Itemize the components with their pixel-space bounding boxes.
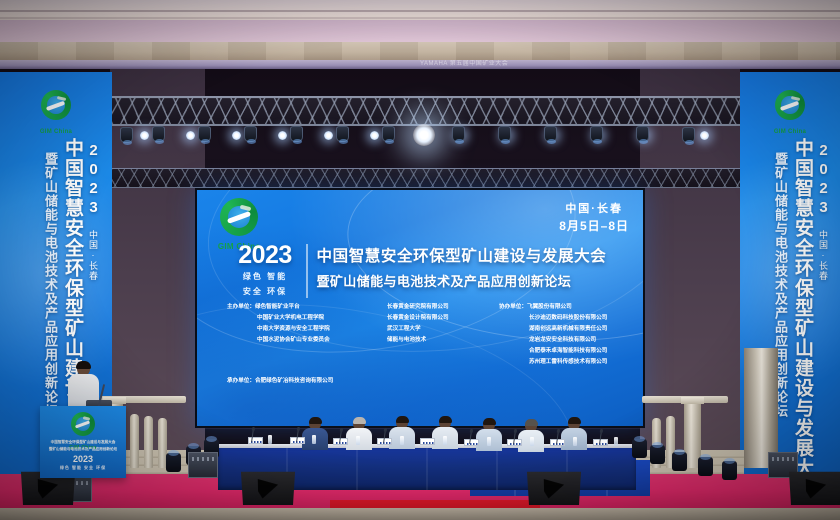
banner-right-city: 中国·长春 [817,230,830,281]
organizer-org: 合肥绿色矿冶科技咨询有限公司 [255,378,333,384]
host-label: 主办单位： [227,302,255,313]
event-slogan-line2: 安全 环保 [229,286,301,298]
host-org: 长春黄金研究院有限公司 [387,302,499,313]
panelist [518,420,544,452]
cohost-org: 苏州理工雷科传感技术有限公司 [499,357,627,368]
cohost-org: 龙岩龙安安全科技有限公司 [499,335,627,346]
podium-title-line2: 暨矿山储能与电池技术及产品应用创新论坛 [48,446,118,453]
equipment-rack-left [188,452,218,478]
banner-right-title-main: 中国智慧安全环保型矿山建设与发展大会 [789,138,816,492]
event-place-date: 中国·长春 8月5日–8日 [559,202,629,235]
host-org: 绿色智能矿业平台 [255,304,300,310]
center-beam-highlight [413,124,435,146]
title-divider [306,244,308,298]
logo-ring-icon [41,90,71,120]
cohost-org: 长沙迪迈数码科技股份有限公司 [499,313,627,324]
cohost-org: 合肥泰禾卓海智能科技有限公司 [499,346,627,357]
podium-year: 2023 [40,454,126,464]
sponsor-credits: 主办单位：绿色智能矿业平台 中国矿业大学机电工程学院 中南大学资源与安全工程学院… [227,302,627,387]
lighting-truss-upper [39,96,803,126]
host-col-1: 主办单位：绿色智能矿业平台 中国矿业大学机电工程学院 中南大学资源与安全工程学院… [227,302,387,367]
ceiling-cornice [0,42,840,60]
cohost-org: 湖南创远高新机械有限责任公司 [499,324,627,335]
auditorium-ceiling [0,0,840,42]
cohost-org: 飞翼股份有限公司 [527,304,572,310]
cohost-col: 协办单位：飞翼股份有限公司 长沙迪迈数码科技股份有限公司 湖南创远高新机械有限责… [499,302,627,367]
host-org: 中国水泥协会矿山专业委员会 [227,335,387,346]
podium-title-line1: 中国智慧安全环保型矿山建设与发展大会 [48,439,118,446]
logo-ring-icon [220,198,258,236]
panelist [476,419,502,451]
podium-slogan: 绿色 智能 安全 环保 [40,465,126,471]
event-title-block: 2023 绿色 智能 安全 环保 中国智慧安全环保型矿山建设与发展大会 暨矿山储… [229,242,615,298]
banner-left-city: 中国·长春 [87,230,100,281]
stage-monitor-speaker [789,472,840,505]
ceiling-ticker-text: YAMAHA 第五届中国矿业大会 [420,60,680,69]
logo-ring-icon [71,412,95,436]
panelist [346,418,372,450]
main-led-screen: GIM China 中国·长春 8月5日–8日 2023 绿色 智能 安全 环保… [195,188,645,428]
gim-china-logo-banner-left: GIM China [27,90,85,138]
organizer-label: 承办单位： [227,376,255,387]
panelist [302,418,328,450]
host-org: 中国矿业大学机电工程学院 [227,313,387,324]
host-org: 长春黄金设计院有限公司 [387,313,499,324]
gim-china-logo-banner-right: GIM China [761,90,819,138]
banner-left-year: 2023 [85,142,102,218]
event-title-main: 中国智慧安全环保型矿山建设与发展大会 [317,244,616,266]
event-year: 2023 [229,243,301,268]
host-org: 武汉工程大学 [387,324,499,335]
event-title-sub: 暨矿山储能与电池技术及产品应用创新论坛 [317,271,616,290]
event-year-block: 2023 绿色 智能 安全 环保 [229,242,301,298]
stage-monitor-speaker [527,472,581,505]
host-org: 中南大学资源与安全工程学院 [227,324,387,335]
conference-stage-photo: YAMAHA 第五届中国矿业大会 [0,0,840,520]
stage-monitor-speaker [241,472,295,505]
event-date: 8月5日–8日 [559,218,629,235]
lighting-truss-lower [90,168,750,188]
speaker-podium: GIM China 中国智慧安全环保型矿山建设与发展大会 暨矿山储能与电池技术及… [40,406,126,478]
auditorium-front-floor [0,508,840,520]
banner-right-year: 2023 [815,142,832,218]
banner-left-title-sub: 暨矿山储能与电池技术及产品应用创新论坛 [41,152,60,418]
host-org: 储能与电池技术 [387,335,499,346]
host-col-2: 长春黄金研究院有限公司 长春黄金设计院有限公司 武汉工程大学 储能与电池技术 [387,302,499,367]
event-city: 中国·长春 [559,202,629,218]
logo-ring-icon [775,90,805,120]
cohost-label: 协办单位： [499,302,527,313]
stone-column-right [744,348,778,468]
event-slogan-line1: 绿色 智能 [229,271,301,283]
